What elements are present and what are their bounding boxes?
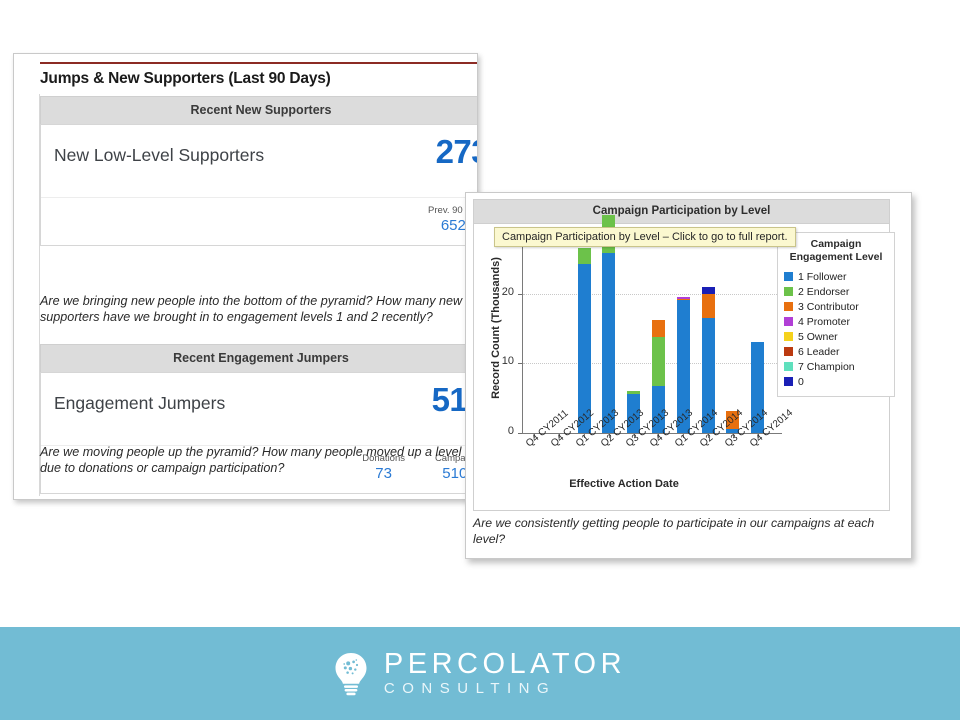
bar-series-group[interactable] bbox=[522, 238, 770, 433]
section-caption: Are we moving people up the pyramid? How… bbox=[40, 444, 470, 476]
legend-label: 3 Contributor bbox=[798, 301, 859, 313]
legend-swatch bbox=[784, 362, 793, 371]
campaign-participation-card[interactable]: Campaign Participation by Level Campaign… bbox=[465, 192, 912, 559]
chart-title: Campaign Participation by Level bbox=[474, 200, 889, 224]
brand-name: PERCOLATOR bbox=[384, 649, 626, 680]
bar-segment[interactable] bbox=[702, 287, 715, 294]
bar-segment[interactable] bbox=[652, 320, 665, 337]
metric-value: 2732 bbox=[436, 133, 478, 171]
legend-label: 1 Follower bbox=[798, 271, 846, 283]
legend-label: 4 Promoter bbox=[798, 316, 850, 328]
bar-segment[interactable] bbox=[578, 248, 591, 265]
section-recent-new-supporters: Recent New Supporters New Low-Level Supp… bbox=[40, 96, 478, 246]
legend-swatch bbox=[784, 287, 793, 296]
legend-item[interactable]: 6 Leader bbox=[784, 344, 888, 359]
legend-swatch bbox=[784, 317, 793, 326]
card-accent-rule bbox=[40, 62, 477, 64]
slide-canvas: Jumps & New Supporters (Last 90 Days) Re… bbox=[0, 0, 960, 720]
brand-tagline: CONSULTING bbox=[384, 680, 626, 698]
legend-label: 0 bbox=[798, 376, 804, 388]
legend-item[interactable]: 2 Endorser bbox=[784, 284, 888, 299]
section-header: Recent Engagement Jumpers bbox=[40, 344, 478, 372]
y-tick-mark bbox=[518, 433, 522, 434]
page-title: Jumps & New Supporters (Last 90 Days) bbox=[40, 70, 331, 88]
legend-swatch bbox=[784, 272, 793, 281]
legend-swatch bbox=[784, 377, 793, 386]
legend-item[interactable]: 0 bbox=[784, 374, 888, 389]
bar-stack[interactable] bbox=[578, 248, 591, 433]
lightbulb-icon bbox=[334, 652, 368, 696]
legend-item[interactable]: 4 Promoter bbox=[784, 314, 888, 329]
y-tick-label: 20 bbox=[492, 286, 514, 298]
bar-segment[interactable] bbox=[702, 294, 715, 318]
bar-stack[interactable] bbox=[602, 215, 615, 433]
submetric-row: Prev. 90 Days 6527 bbox=[41, 198, 478, 245]
y-tick-label: 0 bbox=[492, 425, 514, 437]
metric-label: Engagement Jumpers bbox=[54, 393, 225, 414]
footer-band: PERCOLATOR CONSULTING bbox=[0, 627, 960, 720]
legend-swatch bbox=[784, 347, 793, 356]
chart-legend[interactable]: Campaign Engagement Level 1 Follower2 En… bbox=[777, 232, 895, 397]
brand-lockup: PERCOLATOR CONSULTING bbox=[0, 627, 960, 720]
metric-row[interactable]: Engagement Jumpers 5173 bbox=[41, 373, 478, 446]
legend-item[interactable]: 5 Owner bbox=[784, 329, 888, 344]
brand-text: PERCOLATOR CONSULTING bbox=[384, 649, 626, 698]
x-axis-label: Effective Action Date bbox=[474, 478, 774, 490]
chart-container[interactable]: Campaign Participation by Level Campaign… bbox=[473, 199, 890, 511]
legend-label: 5 Owner bbox=[798, 331, 838, 343]
section-header: Recent New Supporters bbox=[40, 96, 478, 124]
bar-segment[interactable] bbox=[652, 337, 665, 386]
bar-segment[interactable] bbox=[602, 253, 615, 433]
y-tick-label: 10 bbox=[492, 355, 514, 367]
legend-item[interactable]: 7 Champion bbox=[784, 359, 888, 374]
legend-swatch bbox=[784, 302, 793, 311]
section-body: New Low-Level Supporters 2732 Prev. 90 D… bbox=[40, 124, 478, 246]
legend-item[interactable]: 3 Contributor bbox=[784, 299, 888, 314]
y-axis-label: Record Count (Thousands) bbox=[490, 253, 502, 403]
legend-label: 2 Endorser bbox=[798, 286, 849, 298]
legend-item[interactable]: 1 Follower bbox=[784, 269, 888, 284]
legend-swatch bbox=[784, 332, 793, 341]
jumps-and-new-supporters-card[interactable]: Jumps & New Supporters (Last 90 Days) Re… bbox=[13, 53, 478, 500]
chart-tooltip: Campaign Participation by Level – Click … bbox=[494, 227, 796, 247]
chart-caption: Are we consistently getting people to pa… bbox=[473, 515, 893, 547]
legend-label: 6 Leader bbox=[798, 346, 839, 358]
section-caption: Are we bringing new people into the bott… bbox=[40, 293, 470, 325]
metric-row[interactable]: New Low-Level Supporters 2732 bbox=[41, 125, 478, 198]
legend-label: 7 Champion bbox=[798, 361, 855, 373]
legend-title: Campaign Engagement Level bbox=[784, 238, 888, 264]
metric-label: New Low-Level Supporters bbox=[54, 145, 264, 166]
